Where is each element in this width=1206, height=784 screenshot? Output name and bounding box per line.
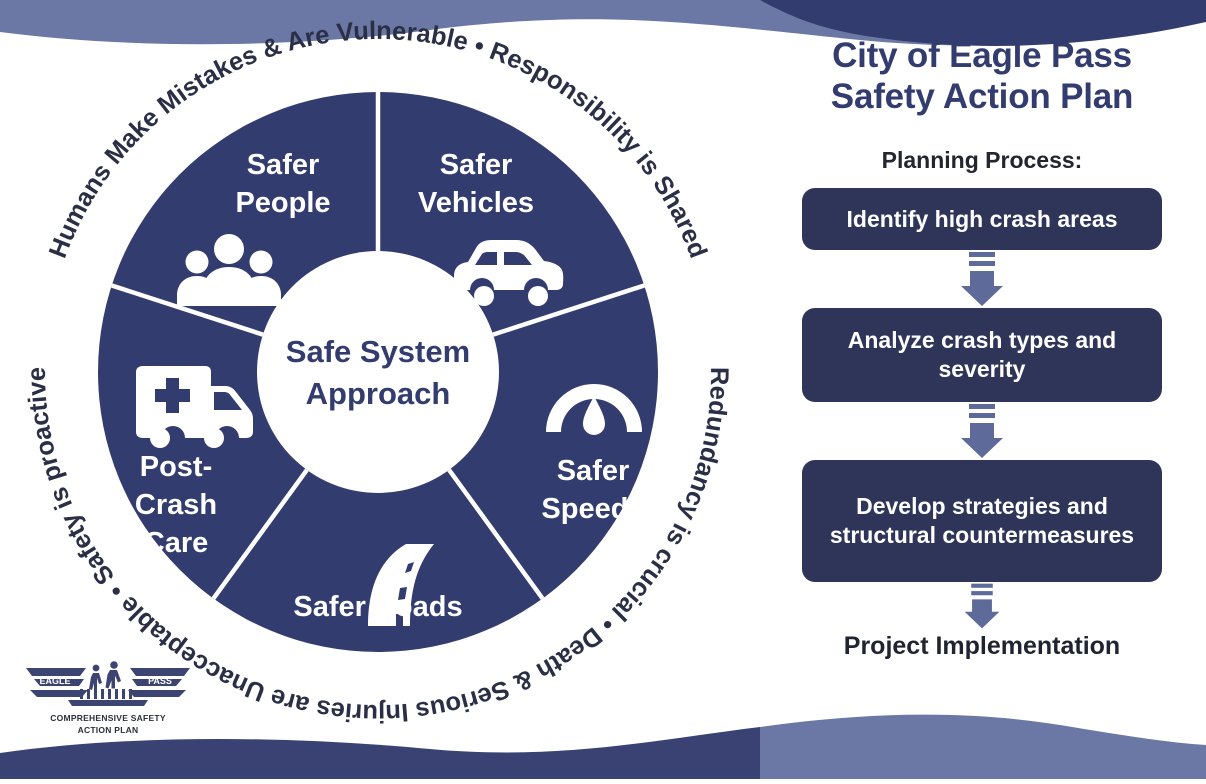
segment-label-line2: Vehicles xyxy=(418,187,534,219)
process-step-3[interactable]: Develop strategies and structural counte… xyxy=(802,460,1162,582)
center-label-line2: Approach xyxy=(306,376,451,411)
eagle-pass-logo: EAGLE PASS COMPREHENSIVE SAFETY ACT xyxy=(24,660,192,752)
safe-system-wheel: Safer People Safer Vehicles xyxy=(8,14,748,754)
logo-mark: EAGLE PASS xyxy=(24,660,192,712)
flow-arrow-2 xyxy=(956,402,1008,460)
center-label-line1: Safe System xyxy=(286,334,470,369)
segment-label-line1: Safer xyxy=(247,149,320,181)
flow-arrow-3 xyxy=(956,582,1008,630)
wheel-segment-safer-speeds: Safer Speeds xyxy=(541,384,644,525)
segment-label-line2: People xyxy=(235,187,330,219)
segment-label-line1: Safer xyxy=(440,149,513,181)
segment-label-line2: Speeds xyxy=(541,493,644,525)
planning-process-heading: Planning Process: xyxy=(882,147,1083,174)
segment-label-line1: Safer Roads xyxy=(293,591,462,623)
logo-crosswalk-icon xyxy=(80,689,132,699)
page-title: City of Eagle Pass Safety Action Plan xyxy=(831,36,1133,117)
process-flow: Identify high crash areas Analyze crash … xyxy=(802,188,1162,661)
process-final-outcome: Project Implementation xyxy=(844,632,1120,661)
segment-label-line3: Care xyxy=(144,527,209,559)
flow-arrow-1 xyxy=(956,250,1008,308)
process-step-2[interactable]: Analyze crash types and severity xyxy=(802,308,1162,402)
wheel-graphic: Safer People Safer Vehicles xyxy=(8,14,748,754)
logo-right-word: PASS xyxy=(148,676,172,686)
planning-process-panel: City of Eagle Pass Safety Action Plan Pl… xyxy=(770,36,1194,736)
process-step-1[interactable]: Identify high crash areas xyxy=(802,188,1162,250)
logo-left-word: EAGLE xyxy=(39,676,70,686)
logo-pedestrian-icons xyxy=(89,661,121,690)
logo-caption: COMPREHENSIVE SAFETY ACTION PLAN xyxy=(24,712,192,737)
segment-label-line1: Post- xyxy=(140,451,213,483)
segment-label-line1: Safer xyxy=(557,455,630,487)
segment-label-line2: Crash xyxy=(135,489,217,521)
